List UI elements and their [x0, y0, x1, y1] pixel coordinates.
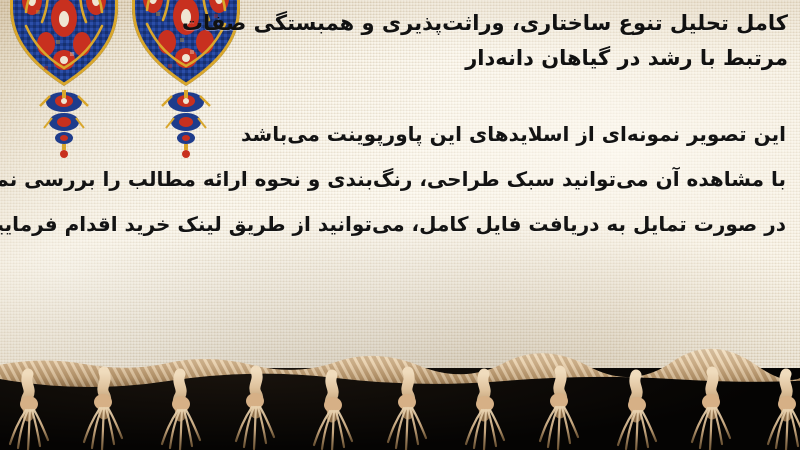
slide-title-line-2: مرتبط با رشد در گیاهان دانه‌دار — [148, 41, 788, 76]
slide-body-line-1: این تصویر نمونه‌ای از اسلایدهای این پاور… — [14, 112, 786, 157]
slide-title-line-1: کامل تحلیل تنوع ساختاری، وراثت‌پذیری و ه… — [148, 6, 788, 41]
carpet-fringe — [0, 344, 800, 450]
medallion-pendant-upper — [162, 90, 210, 112]
medallion-pendant-upper — [40, 90, 88, 112]
persian-medallion-left-ornament — [6, 0, 122, 120]
slide-body: این تصویر نمونه‌ای از اسلایدهای این پاور… — [14, 112, 786, 247]
slide-body-line-3: در صورت تمایل به دریافت فایل کامل، می‌تو… — [14, 202, 786, 247]
slide-canvas: کامل تحلیل تنوع ساختاری، وراثت‌پذیری و ه… — [0, 0, 800, 450]
slide-body-line-2: با مشاهده آن می‌توانید سبک طراحی، رنگ‌بن… — [14, 157, 786, 202]
slide-title: کامل تحلیل تنوع ساختاری، وراثت‌پذیری و ه… — [148, 6, 788, 76]
medallion-body — [6, 0, 122, 90]
